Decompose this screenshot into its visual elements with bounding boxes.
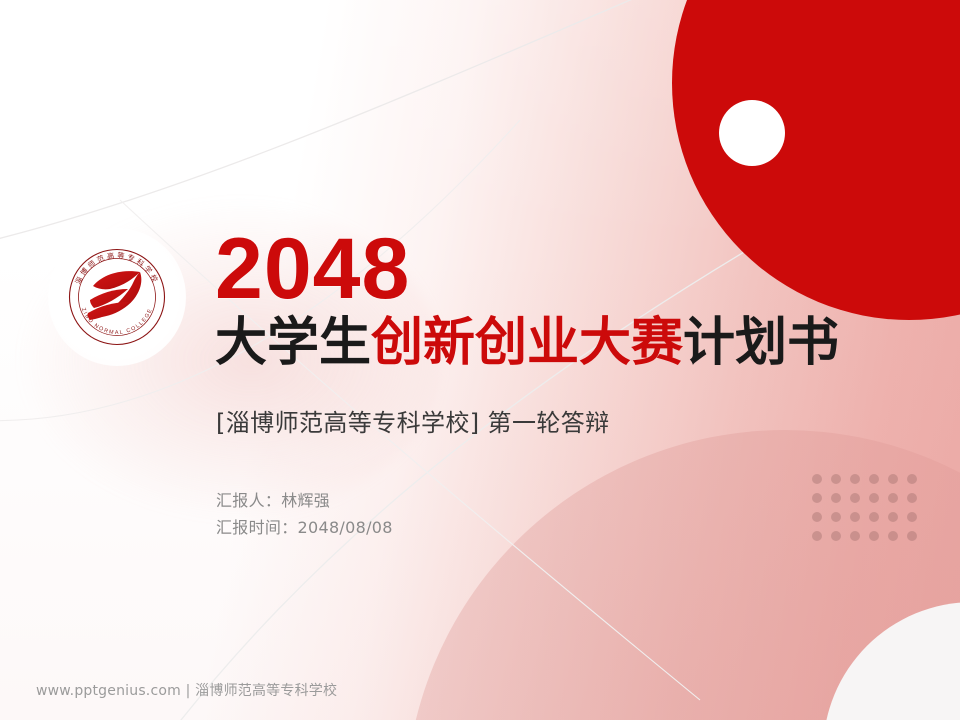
presenter-line: 汇报人：林辉强 (216, 487, 393, 514)
headline-part-1: 大学生 (215, 313, 371, 373)
school-logo: 淄博师范高等专科学校 ZIBO NORMAL COLLEGE (48, 228, 186, 366)
slide-subtitle: [淄博师范高等专科学校] 第一轮答辩 (216, 407, 610, 439)
year-label: 2048 (215, 226, 410, 312)
presentation-slide: 淄博师范高等专科学校 ZIBO NORMAL COLLEGE 2048 大学生创… (0, 0, 960, 720)
headline-part-3: 计划书 (683, 313, 839, 373)
slide-headline: 大学生创新创业大赛计划书 (215, 313, 839, 373)
school-logo-icon: 淄博师范高等专科学校 ZIBO NORMAL COLLEGE (48, 228, 186, 366)
presentation-meta: 汇报人：林辉强 汇报时间：2048/08/08 (216, 487, 393, 541)
title-block: 2048 大学生创新创业大赛计划书 [淄博师范高等专科学校] 第一轮答辩 汇报人… (215, 0, 935, 720)
footer-text: www.pptgenius.com | 淄博师范高等专科学校 (36, 681, 337, 701)
headline-part-2: 创新创业大赛 (371, 313, 683, 373)
date-line: 汇报时间：2048/08/08 (216, 514, 393, 541)
